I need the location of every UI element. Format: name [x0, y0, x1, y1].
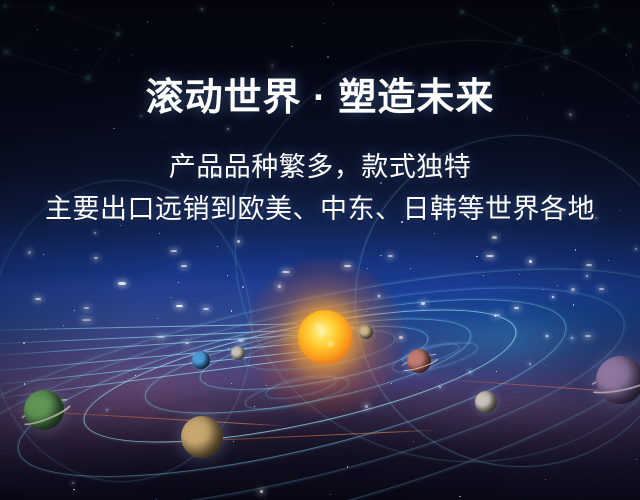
- planet-beige-lower: [181, 416, 223, 458]
- subtitle-line-one: 产品品种繁多，款式独特: [0, 150, 640, 184]
- page-title: 滚动世界 · 塑造未来: [0, 76, 640, 120]
- subtitle-line-two: 主要出口远销到欧美、中东、日韩等世界各地: [0, 192, 640, 226]
- planet-earth: [192, 351, 210, 369]
- planet-layer: [0, 0, 640, 500]
- planet-tan-upper: [359, 325, 373, 339]
- planet-grey-right: [475, 391, 497, 413]
- space-banner: 滚动世界 · 塑造未来 产品品种繁多，款式独特 主要出口远销到欧美、中东、日韩等…: [0, 0, 640, 500]
- planet-grey-small: [231, 346, 245, 360]
